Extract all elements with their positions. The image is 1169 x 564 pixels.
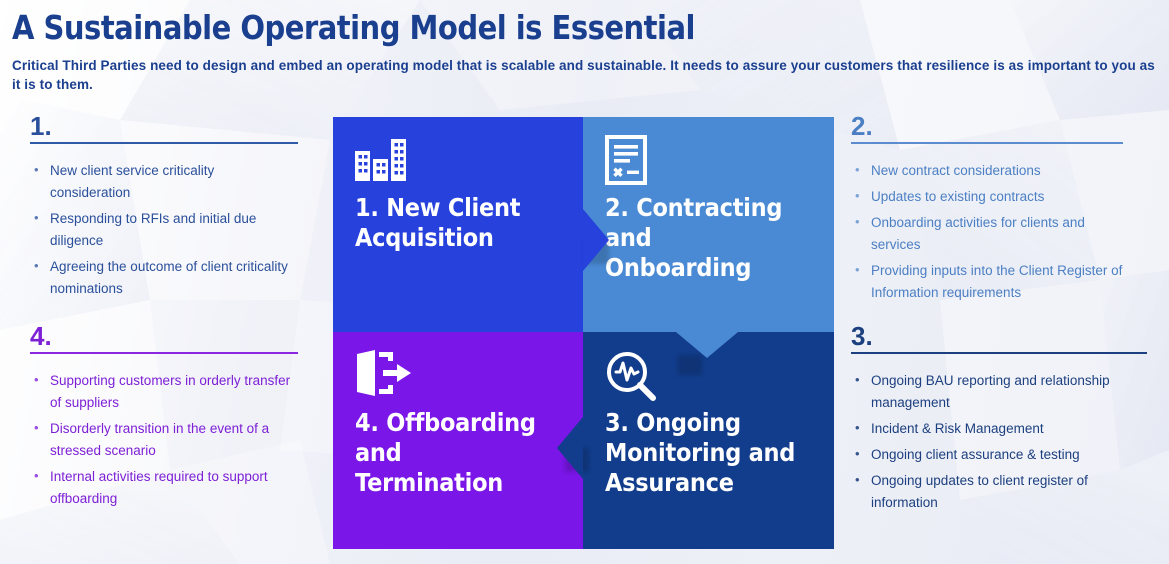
list-item: Incident & Risk Management <box>851 418 1147 440</box>
arrow-2-3-shadow <box>678 355 702 375</box>
quadrant-1-label: 1. New Client Acquisition <box>355 193 548 253</box>
list-item: Agreeing the outcome of client criticali… <box>30 256 298 300</box>
section-3-bullet-list: Ongoing BAU reporting and relationship m… <box>851 370 1147 514</box>
exit-door-icon <box>355 350 569 398</box>
list-item: Ongoing client assurance & testing <box>851 444 1147 466</box>
section-1-bullet-list: New client service criticality considera… <box>30 160 298 300</box>
arrow-quadrant-1-to-2-icon <box>583 209 609 271</box>
list-item: Disorderly transition in the event of a … <box>30 418 298 462</box>
section-3-ongoing-monitoring-and-assurance: 3. Ongoing BAU reporting and relationshi… <box>851 322 1147 518</box>
quadrant-3-label: 3. Ongoing Monitoring and Assurance <box>605 408 799 498</box>
section-3-rule <box>851 352 1147 354</box>
section-2-rule <box>851 142 1123 144</box>
section-2-bullet-list: New contract considerations Updates to e… <box>851 160 1123 304</box>
section-4-offboarding-and-termination: 4. Supporting customers in orderly trans… <box>30 322 298 514</box>
contract-document-icon <box>605 135 820 183</box>
section-1-number: 1. <box>30 112 298 140</box>
quadrant-4-label: 4. Offboarding and Termination <box>355 408 548 498</box>
slide-canvas: A Sustainable Operating Model is Essenti… <box>0 0 1169 564</box>
buildings-icon <box>355 135 569 183</box>
section-4-rule <box>30 352 298 354</box>
quadrant-1-new-client-acquisition[interactable]: 1. New Client Acquisition <box>333 117 583 332</box>
quadrant-3-ongoing-monitoring-and-assurance[interactable]: 3. Ongoing Monitoring and Assurance <box>583 332 834 549</box>
section-1-rule <box>30 142 298 144</box>
section-2-number: 2. <box>851 112 1123 140</box>
arrow-quadrant-2-to-3-icon <box>676 332 738 358</box>
list-item: New contract considerations <box>851 160 1123 182</box>
page-title: A Sustainable Operating Model is Essenti… <box>12 8 1024 48</box>
list-item: Updates to existing contracts <box>851 186 1123 208</box>
quadrant-4-offboarding-and-termination[interactable]: 4. Offboarding and Termination <box>333 332 583 549</box>
quadrant-2-label: 2. Contracting and Onboarding <box>605 193 799 283</box>
list-item: Ongoing updates to client register of in… <box>851 470 1147 514</box>
list-item: Onboarding activities for clients and se… <box>851 212 1123 256</box>
section-4-number: 4. <box>30 322 298 350</box>
operating-model-matrix: 1. New Client Acquisition <box>333 117 834 549</box>
section-4-bullet-list: Supporting customers in orderly transfer… <box>30 370 298 510</box>
arrow-quadrant-3-to-4-icon <box>557 417 583 479</box>
list-item: Supporting customers in orderly transfer… <box>30 370 298 414</box>
list-item: New client service criticality considera… <box>30 160 298 204</box>
page-subtitle: Critical Third Parties need to design an… <box>12 56 1160 94</box>
quadrant-2-contracting-and-onboarding[interactable]: 2. Contracting and Onboarding <box>583 117 834 332</box>
section-3-number: 3. <box>851 322 1147 350</box>
section-2-contracting-and-onboarding: 2. New contract considerations Updates t… <box>851 112 1123 308</box>
list-item: Internal activities required to support … <box>30 466 298 510</box>
list-item: Responding to RFIs and initial due dilig… <box>30 208 298 252</box>
list-item: Providing inputs into the Client Registe… <box>851 260 1123 304</box>
section-1-new-client-acquisition: 1. New client service criticality consid… <box>30 112 298 304</box>
header: A Sustainable Operating Model is Essenti… <box>12 8 1162 94</box>
list-item: Ongoing BAU reporting and relationship m… <box>851 370 1147 414</box>
